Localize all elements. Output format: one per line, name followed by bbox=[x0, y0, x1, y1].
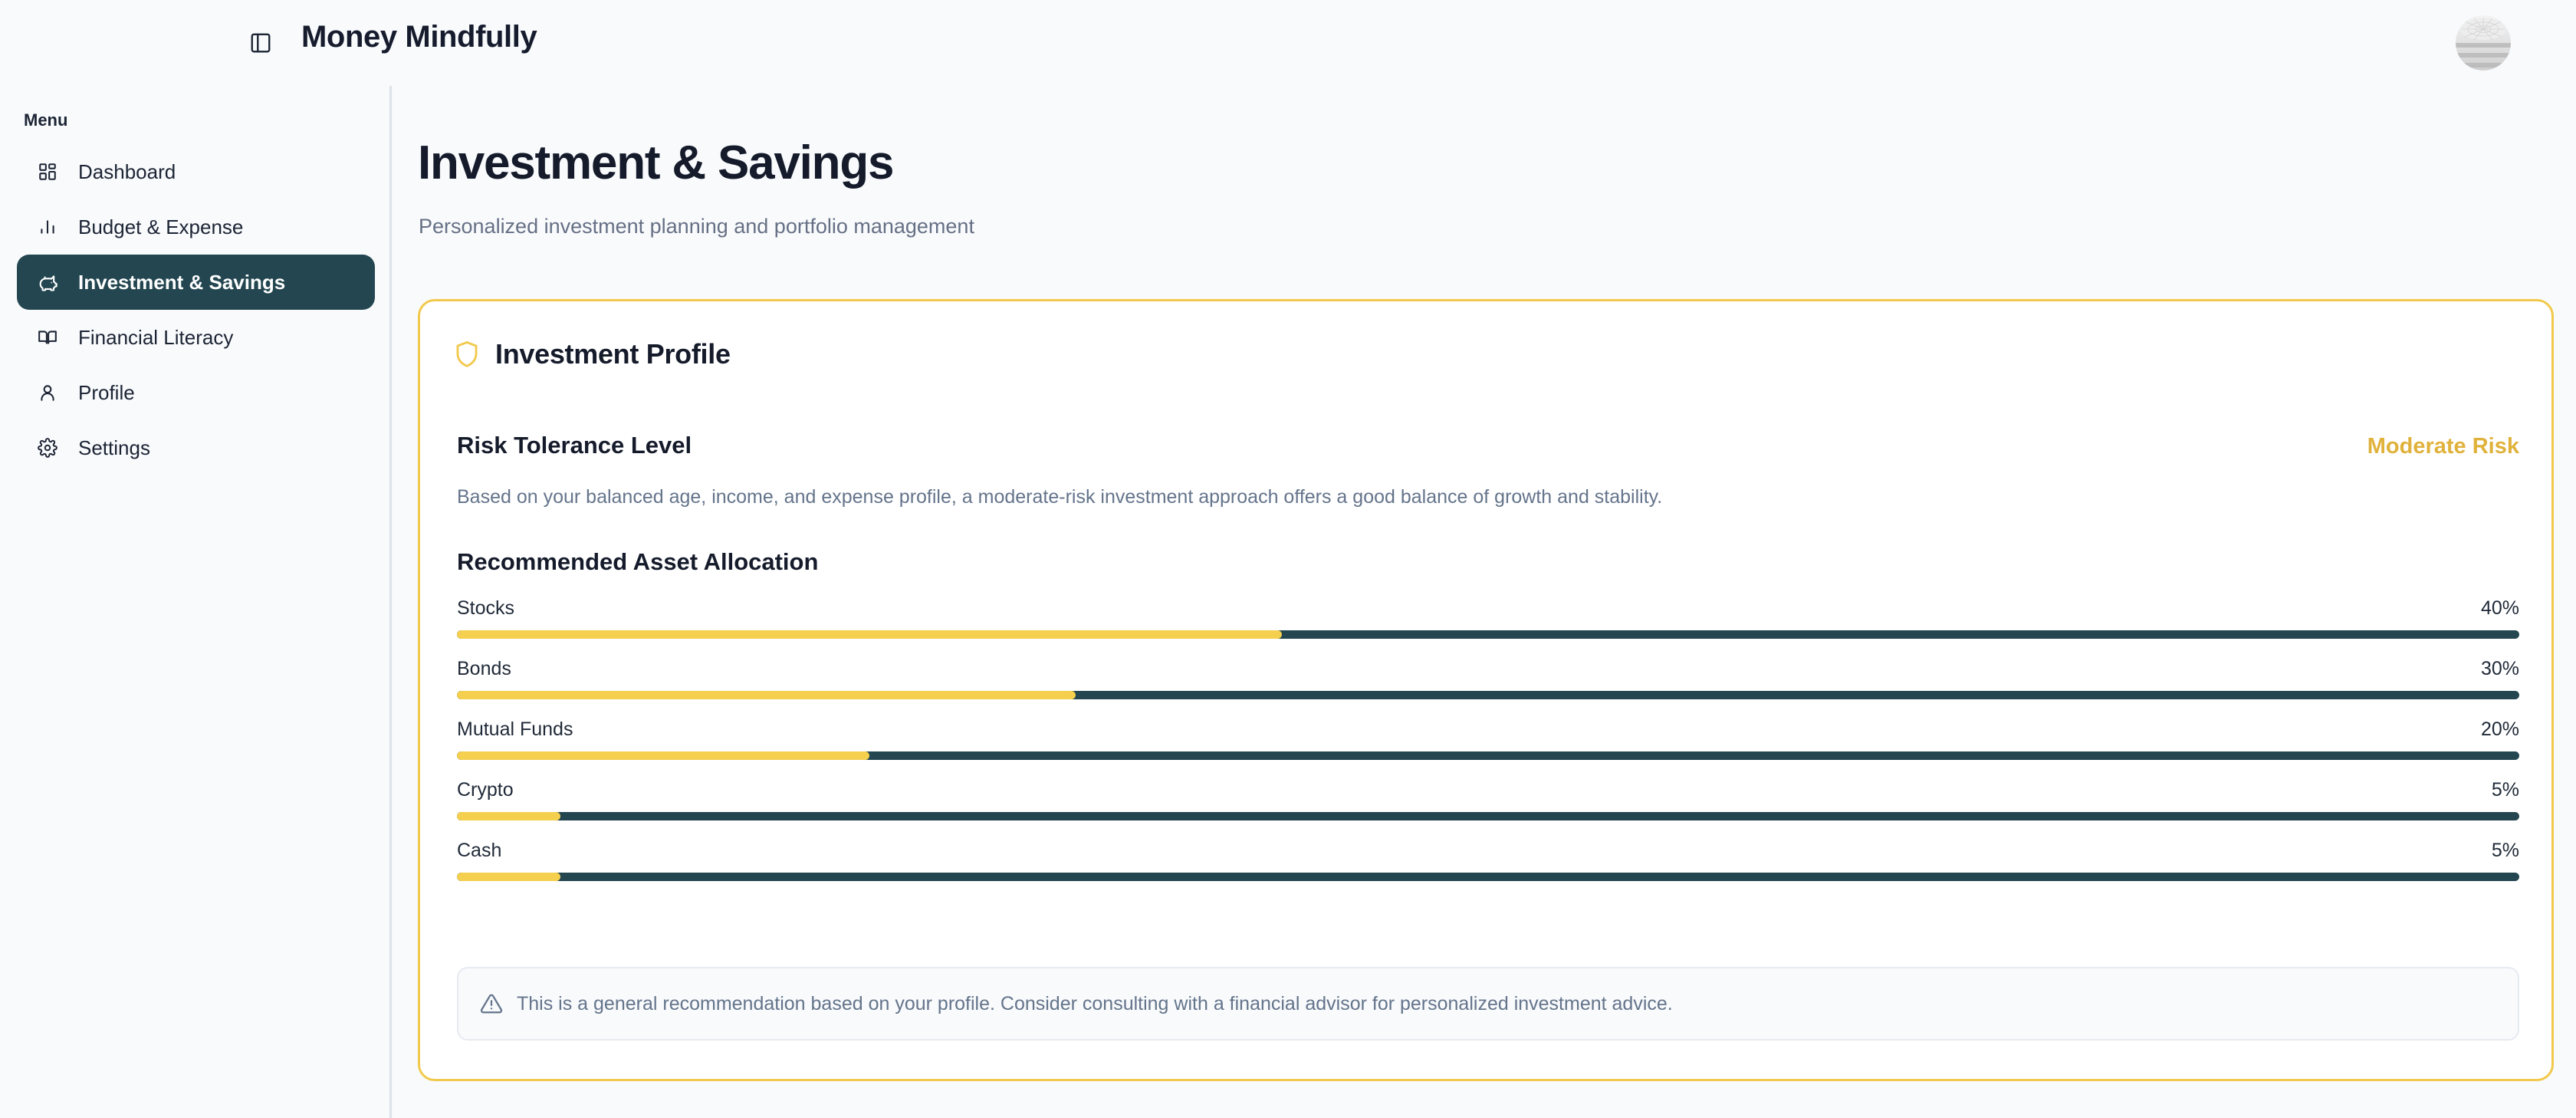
main-content: Investment & Savings Personalized invest… bbox=[394, 86, 2576, 1118]
avatar[interactable] bbox=[2456, 15, 2511, 71]
sidebar-item-profile[interactable]: Profile bbox=[17, 365, 375, 420]
allocation-row: Crypto 5% bbox=[457, 779, 2519, 820]
sidebar-item-settings[interactable]: Settings bbox=[17, 420, 375, 475]
allocation-row-head: Stocks 40% bbox=[457, 597, 2519, 620]
allocation-row: Stocks 40% bbox=[457, 597, 2519, 639]
allocation-bar-fill bbox=[457, 630, 1282, 639]
card-header: Investment Profile bbox=[454, 338, 731, 370]
risk-tolerance-row: Risk Tolerance Level Moderate Risk bbox=[457, 432, 2519, 459]
user-icon bbox=[34, 379, 61, 406]
sidebar-item-label: Financial Literacy bbox=[78, 326, 233, 350]
allocation-bar-track bbox=[457, 873, 2519, 881]
brand-title: Money Mindfully bbox=[301, 20, 537, 54]
sidebar-nav: Dashboard Budget & Expense Investmen bbox=[0, 144, 392, 475]
page-subtitle: Personalized investment planning and por… bbox=[419, 215, 974, 238]
sidebar-section-label: Menu bbox=[24, 110, 67, 130]
shield-icon bbox=[454, 339, 480, 370]
sidebar-item-label: Profile bbox=[78, 381, 135, 405]
layout-grid-icon bbox=[34, 158, 61, 186]
allocation-bar-track bbox=[457, 812, 2519, 820]
allocation-bar-track bbox=[457, 751, 2519, 760]
allocation-asset-percent: 5% bbox=[2492, 840, 2519, 862]
sidebar-item-investment-savings[interactable]: Investment & Savings bbox=[17, 255, 375, 310]
sidebar-item-budget-expense[interactable]: Budget & Expense bbox=[17, 199, 375, 255]
sidebar-item-dashboard[interactable]: Dashboard bbox=[17, 144, 375, 199]
allocation-bar-track bbox=[457, 691, 2519, 699]
card-title: Investment Profile bbox=[495, 338, 731, 370]
bar-chart-icon bbox=[34, 213, 61, 241]
allocation-asset-percent: 30% bbox=[2481, 658, 2519, 680]
allocation-row: Mutual Funds 20% bbox=[457, 718, 2519, 760]
allocation-row-head: Bonds 30% bbox=[457, 658, 2519, 680]
gear-icon bbox=[34, 434, 61, 462]
sidebar-item-label: Dashboard bbox=[78, 160, 176, 184]
allocation-row-head: Crypto 5% bbox=[457, 779, 2519, 801]
sidebar-toggle-button[interactable] bbox=[244, 26, 278, 60]
allocation-asset-percent: 5% bbox=[2492, 779, 2519, 801]
allocation-bar-fill bbox=[457, 873, 560, 881]
allocation-title: Recommended Asset Allocation bbox=[457, 548, 818, 576]
allocation-row: Bonds 30% bbox=[457, 658, 2519, 699]
allocation-asset-name: Mutual Funds bbox=[457, 718, 573, 741]
allocation-bar-fill bbox=[457, 812, 560, 820]
sidebar-item-label: Investment & Savings bbox=[78, 271, 285, 294]
page-title: Investment & Savings bbox=[418, 136, 893, 190]
risk-level-badge: Moderate Risk bbox=[2367, 434, 2519, 459]
allocation-asset-percent: 20% bbox=[2481, 718, 2519, 741]
investment-profile-card: Investment Profile Risk Tolerance Level … bbox=[418, 299, 2554, 1081]
sidebar: Menu Dashboard Budget & Exp bbox=[0, 86, 392, 1118]
piggy-bank-icon bbox=[34, 268, 61, 296]
allocation-asset-name: Crypto bbox=[457, 779, 514, 801]
asset-allocation-list: Stocks 40% Bonds 30% Mutual Funds bbox=[457, 597, 2519, 900]
sidebar-item-label: Budget & Expense bbox=[78, 215, 243, 239]
top-bar: Money Mindfully bbox=[0, 0, 2576, 86]
allocation-asset-name: Cash bbox=[457, 840, 501, 862]
risk-tolerance-label: Risk Tolerance Level bbox=[457, 432, 692, 459]
allocation-asset-name: Bonds bbox=[457, 658, 511, 680]
sidebar-item-financial-literacy[interactable]: Financial Literacy bbox=[17, 310, 375, 365]
avatar-image bbox=[2456, 15, 2511, 71]
allocation-row: Cash 5% bbox=[457, 840, 2519, 881]
allocation-bar-fill bbox=[457, 751, 869, 760]
allocation-bar-fill bbox=[457, 691, 1076, 699]
allocation-asset-name: Stocks bbox=[457, 597, 514, 620]
panel-left-icon bbox=[249, 31, 272, 54]
allocation-row-head: Cash 5% bbox=[457, 840, 2519, 862]
book-open-icon bbox=[34, 324, 61, 351]
sidebar-item-label: Settings bbox=[78, 436, 150, 460]
disclaimer-text: This is a general recommendation based o… bbox=[517, 993, 1673, 1015]
warning-triangle-icon bbox=[480, 992, 503, 1015]
disclaimer-notice: This is a general recommendation based o… bbox=[457, 967, 2519, 1041]
risk-description: Based on your balanced age, income, and … bbox=[457, 484, 1662, 511]
allocation-row-head: Mutual Funds 20% bbox=[457, 718, 2519, 741]
allocation-asset-percent: 40% bbox=[2481, 597, 2519, 620]
allocation-bar-track bbox=[457, 630, 2519, 639]
